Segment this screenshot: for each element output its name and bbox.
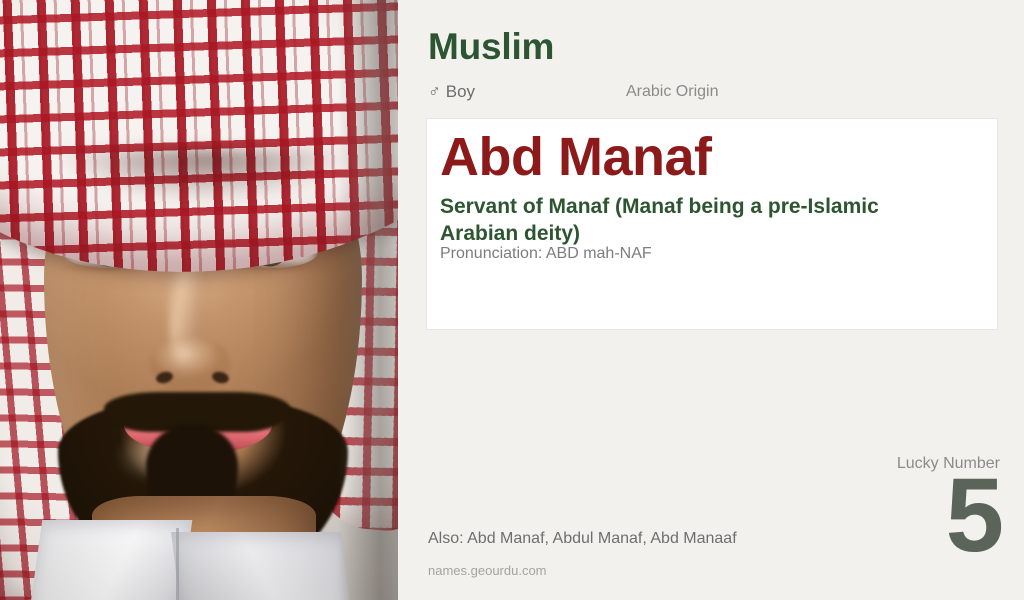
name-pronunciation: Pronunciation: ABD mah-NAF [440,245,652,263]
meta-row: ♂Boy Arabic Origin [428,82,988,106]
photo-edge-shadow [338,0,398,600]
thobe-collar-right [171,532,351,600]
name-detail-card: Abd Manaf Servant of Manaf (Manaf being … [426,118,998,330]
thobe-seam [176,528,179,600]
keffiyeh-shadow [40,150,370,220]
also-known-as: Also: Abd Manaf, Abdul Manaf, Abd Manaaf [428,530,737,548]
name-heading: Abd Manaf [440,127,712,187]
gender-label: ♂Boy [428,82,475,102]
portrait-photo [0,0,398,600]
lucky-number-value: 5 [946,463,1004,568]
religion-title: Muslim [428,26,554,68]
name-meaning: Servant of Manaf (Manaf being a pre-Isla… [440,194,910,248]
origin-label: Arabic Origin [626,83,718,101]
male-gender-icon: ♂ [428,82,441,101]
thobe-collar-left [30,520,193,600]
name-card-page: Muslim ♂Boy Arabic Origin Abd Manaf Serv… [0,0,1024,600]
site-watermark: names.geourdu.com [428,563,547,578]
gender-text: Boy [446,82,475,101]
nose-tip [150,336,230,392]
content-panel: Muslim ♂Boy Arabic Origin Abd Manaf Serv… [398,0,1024,600]
